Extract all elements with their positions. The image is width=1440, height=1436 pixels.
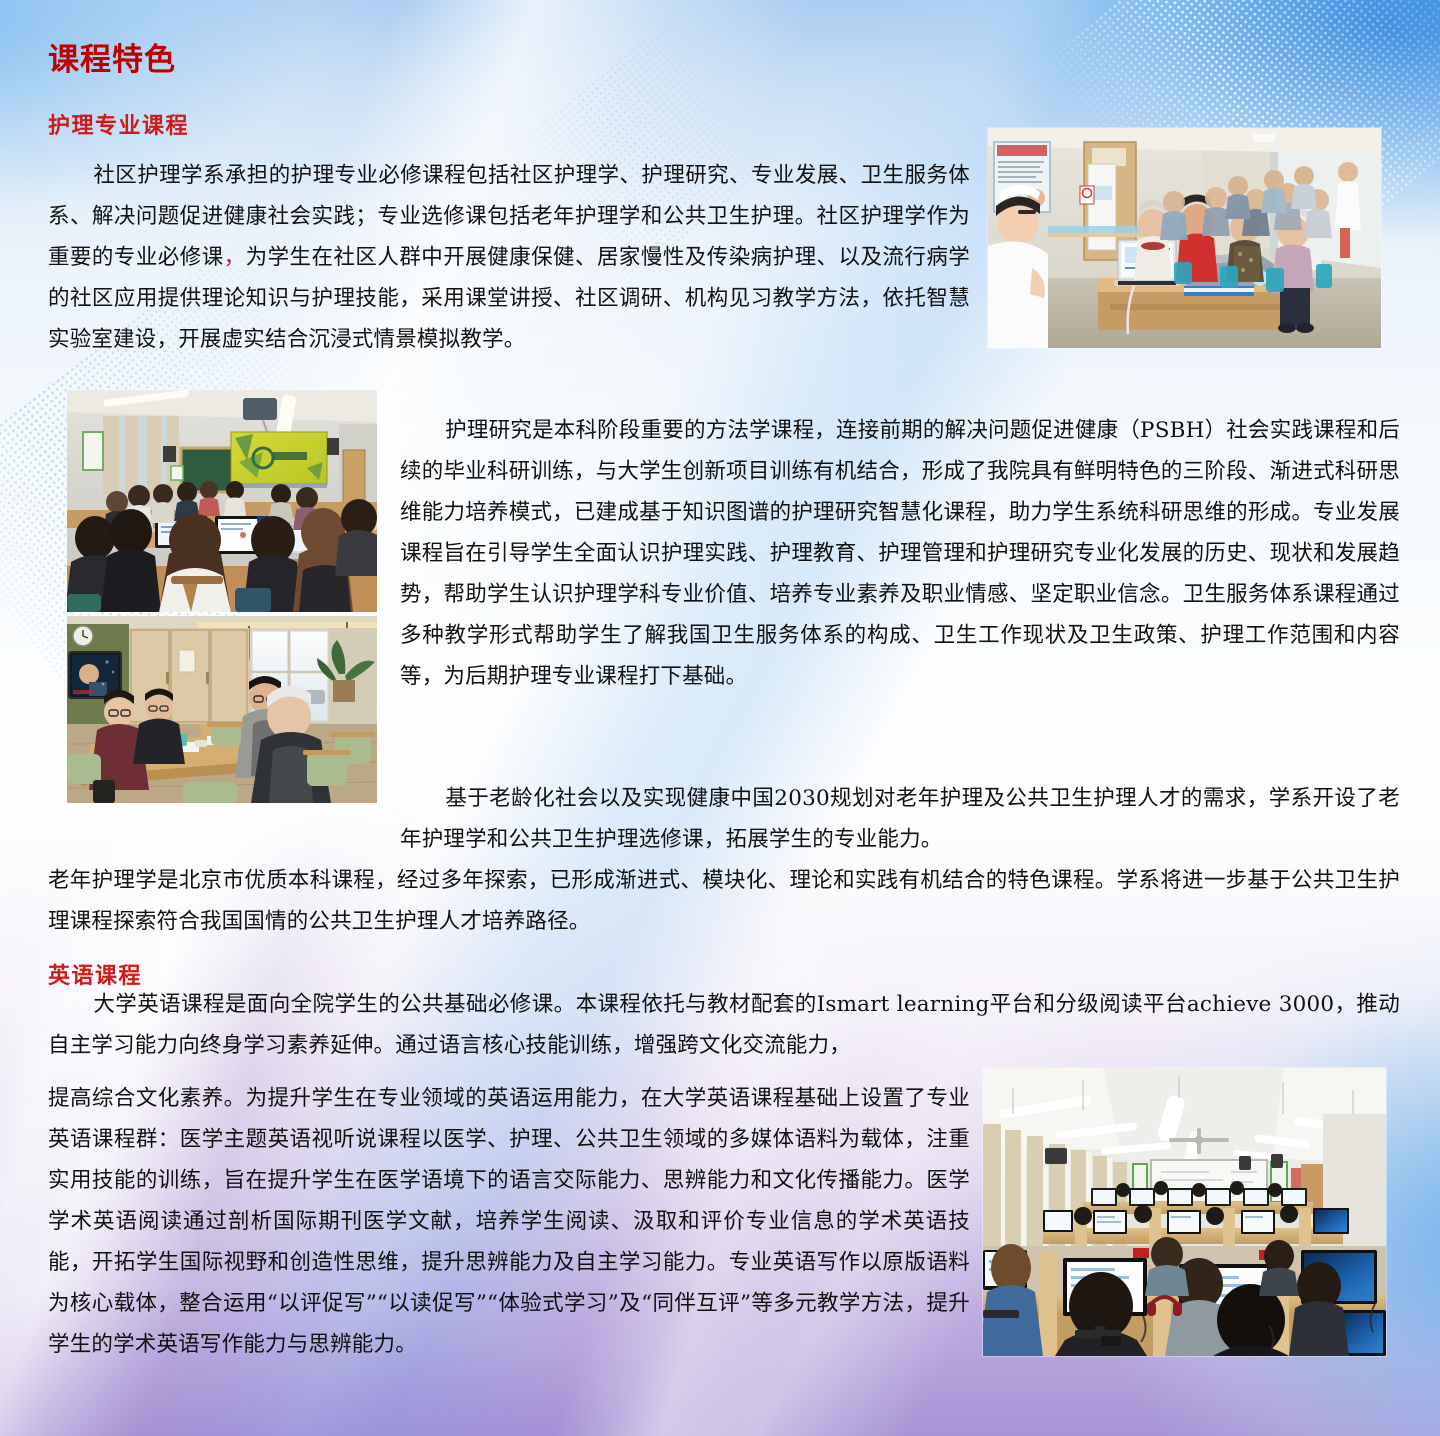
elder-care-visit-photo bbox=[67, 616, 377, 803]
paragraph-nursing-courses-4: 老年护理学是北京市优质本科课程，经过多年探索，已形成渐进式、模块化、理论和实践有… bbox=[48, 860, 1400, 942]
paragraph-text: 基于老龄化社会以及实现健康中国2030规划对老年护理及公共卫生护理人才的需求，学… bbox=[400, 786, 1400, 852]
page-canvas: 课程特色 护理专业课程 bbox=[0, 0, 1440, 1436]
community-health-lecture-photo bbox=[988, 128, 1381, 348]
paragraph-english-courses-2: 提高综合文化素养。为提升学生在专业领域的英语运用能力，在大学英语课程基础上设置了… bbox=[48, 1078, 970, 1365]
paragraph-text: 护理研究是本科阶段重要的方法学课程，连接前期的解决问题促进健康（PSBH）社会实… bbox=[400, 418, 1400, 689]
paragraph-text: 老年护理学是北京市优质本科课程，经过多年探索，已形成渐进式、模块化、理论和实践有… bbox=[48, 868, 1400, 934]
page-title: 课程特色 bbox=[48, 41, 176, 80]
paragraph-text: 提高综合文化素养。为提升学生在专业领域的英语运用能力，在大学英语课程基础上设置了… bbox=[48, 1086, 970, 1357]
paragraph-nursing-courses-1: 社区护理学系承担的护理专业必修课程包括社区护理学、护理研究、专业发展、卫生服务体… bbox=[48, 155, 970, 360]
paragraph-nursing-courses-3: 基于老龄化社会以及实现健康中国2030规划对老年护理及公共卫生护理人才的需求，学… bbox=[400, 778, 1400, 860]
section-heading-nursing-courses: 护理专业课程 bbox=[48, 108, 189, 140]
accent-comma: ， bbox=[224, 245, 246, 270]
paragraph-text: 大学英语课程是面向全院学生的公共基础必修课。本课程依托与教材配套的Ismart … bbox=[48, 992, 1400, 1058]
paragraph-english-courses-1: 大学英语课程是面向全院学生的公共基础必修课。本课程依托与教材配套的Ismart … bbox=[48, 984, 1400, 1066]
paragraph-nursing-courses-2: 护理研究是本科阶段重要的方法学课程，连接前期的解决问题促进健康（PSBH）社会实… bbox=[400, 410, 1400, 697]
psbh-classroom-photo bbox=[67, 390, 377, 612]
english-computer-lab-photo bbox=[983, 1068, 1386, 1356]
